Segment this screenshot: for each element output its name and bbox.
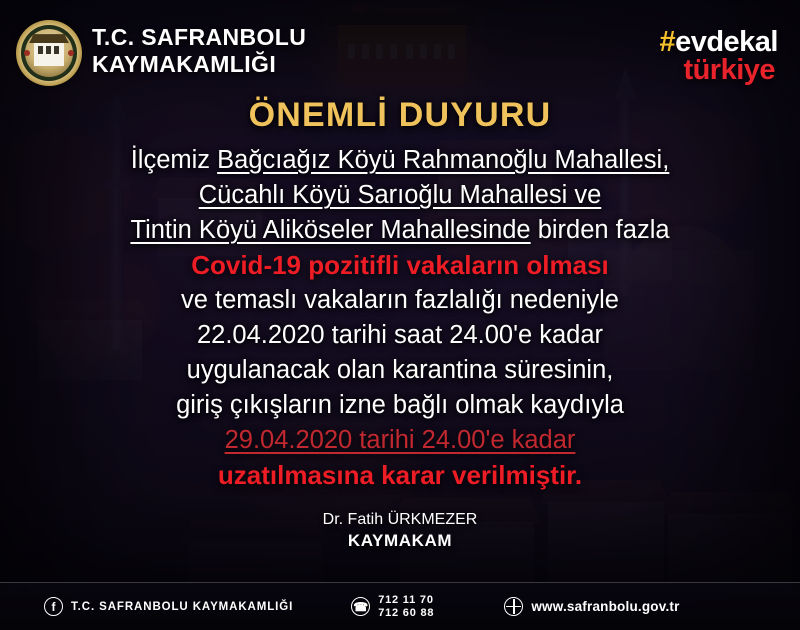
facebook-icon: f: [44, 597, 63, 616]
hashtag-word-turkiye: türkiye: [683, 54, 775, 86]
neighborhood-2: Cücahlı Köyü Sarıoğlu Mahallesi ve: [199, 181, 602, 209]
facebook-label: T.C. SAFRANBOLU KAYMAKAMLIĞI: [71, 601, 293, 613]
poster-footer: f T.C. SAFRANBOLU KAYMAKAMLIĞI ☎ 712 11 …: [0, 582, 800, 630]
org-line-1: T.C. SAFRANBOLU: [92, 24, 306, 51]
announcement-poster: T.C. SAFRANBOLU KAYMAKAMLIĞI T.C. SAFRAN…: [0, 0, 800, 630]
neighborhood-1: Bağcıağız Köyü Rahmanoğlu Mahallesi,: [217, 146, 669, 174]
hash-symbol: #: [659, 26, 675, 58]
traditional-house-icon: [34, 42, 64, 66]
signature-block: Dr. Fatih ÜRKMEZER KAYMAKAM: [0, 509, 800, 551]
footer-website[interactable]: www.safranbolu.gov.tr: [504, 597, 679, 616]
footer-phone[interactable]: ☎ 712 11 70 712 60 88: [351, 594, 434, 619]
signer-name: Dr. Fatih ÜRKMEZER: [0, 509, 800, 530]
announcement-line-8: giriş çıkışların izne bağlı olmak kaydıy…: [0, 388, 800, 423]
hashtag-line-2: türkiye: [659, 56, 778, 84]
phone-number-1: 712 11 70: [378, 594, 434, 607]
organization-name: T.C. SAFRANBOLU KAYMAKAMLIĞI: [92, 24, 306, 78]
announcement-line-3: Tintin Köyü Aliköseler Mahallesinde bird…: [0, 213, 800, 248]
announcement-line-5: ve temaslı vakaların fazlalığı nedeniyle: [0, 283, 800, 318]
evdekal-turkiye-campaign-badge: #evdekal türkiye: [659, 28, 778, 85]
line-1-prefix: İlçemiz: [131, 146, 217, 174]
line-3-suffix: birden fazla: [531, 216, 670, 244]
phone-numbers: 712 11 70 712 60 88: [378, 594, 434, 619]
signer-role: KAYMAKAM: [0, 530, 800, 551]
hashtag-line-1: #evdekal: [659, 28, 778, 56]
phone-number-2: 712 60 88: [378, 607, 434, 620]
announcement-line-7: uygulanacak olan karantina süresinin,: [0, 353, 800, 388]
logo-dot-left: [24, 50, 30, 56]
announcement-line-10-decision: uzatılmasına karar verilmiştir.: [0, 458, 800, 493]
announcement-title: ÖNEMLİ DUYURU: [0, 96, 800, 135]
extension-date: 29.04.2020 tarihi 24.00'e kadar: [225, 426, 576, 454]
phone-icon: ☎: [351, 597, 370, 616]
announcement-line-9-end-date: 29.04.2020 tarihi 24.00'e kadar: [0, 423, 800, 458]
safranbolu-kaymakamlik-logo: T.C. SAFRANBOLU KAYMAKAMLIĞI: [16, 20, 82, 86]
announcement-line-2: Cücahlı Köyü Sarıoğlu Mahallesi ve: [0, 178, 800, 213]
neighborhood-3: Tintin Köyü Aliköseler Mahallesinde: [130, 216, 530, 244]
globe-icon: [504, 597, 523, 616]
announcement-line-1: İlçemiz Bağcıağız Köyü Rahmanoğlu Mahall…: [0, 143, 800, 178]
poster-header: T.C. SAFRANBOLU KAYMAKAMLIĞI T.C. SAFRAN…: [0, 0, 800, 96]
org-line-2: KAYMAKAMLIĞI: [92, 51, 306, 78]
logo-dot-right: [68, 50, 74, 56]
announcement-line-6-start-date: 22.04.2020 tarihi saat 24.00'e kadar: [0, 318, 800, 353]
announcement-body: ÖNEMLİ DUYURU İlçemiz Bağcıağız Köyü Rah…: [0, 96, 800, 551]
footer-facebook[interactable]: f T.C. SAFRANBOLU KAYMAKAMLIĞI: [44, 597, 293, 616]
announcement-line-4-covid: Covid-19 pozitifli vakaların olması: [0, 248, 800, 283]
website-url: www.safranbolu.gov.tr: [531, 599, 679, 614]
